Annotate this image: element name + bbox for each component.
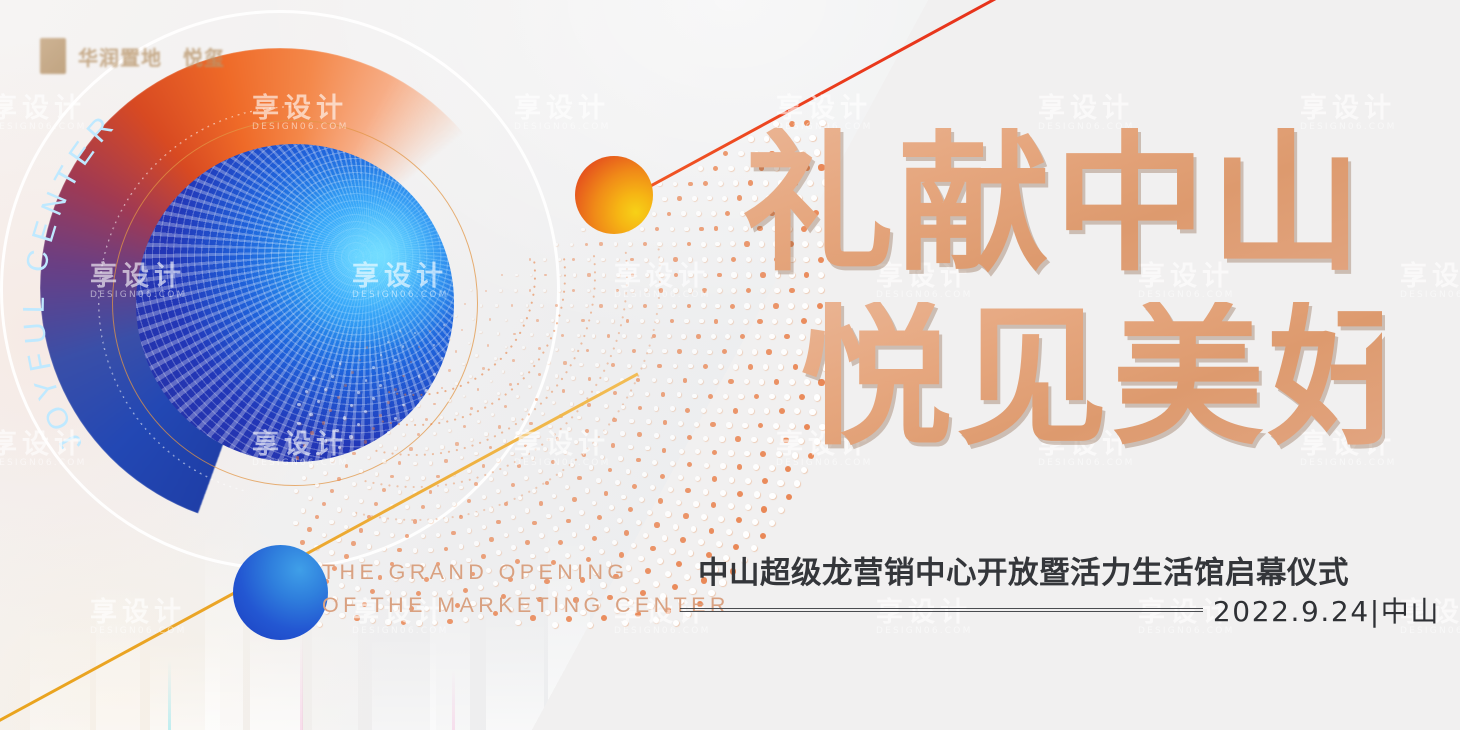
headline-line-2: 悦见美好 bbox=[800, 302, 1382, 454]
halftone-dot bbox=[659, 257, 663, 261]
halftone-dot bbox=[324, 439, 327, 442]
halftone-dot bbox=[399, 330, 401, 332]
halftone-dot bbox=[707, 350, 712, 355]
halftone-dot bbox=[595, 417, 599, 421]
halftone-dot bbox=[691, 526, 697, 532]
halftone-dot bbox=[718, 181, 723, 186]
halftone-dot bbox=[643, 304, 647, 308]
halftone-dot bbox=[510, 452, 514, 456]
halftone-dot bbox=[673, 364, 678, 369]
halftone-dot bbox=[390, 475, 394, 479]
halftone-dot bbox=[436, 533, 440, 537]
halftone-dot bbox=[496, 458, 500, 462]
halftone-dot bbox=[387, 372, 389, 374]
halftone-dot bbox=[530, 360, 533, 363]
halftone-dot bbox=[387, 431, 390, 434]
halftone-dot bbox=[642, 364, 646, 368]
halftone-dot bbox=[413, 548, 418, 553]
halftone-dot bbox=[329, 409, 332, 412]
halftone-dot bbox=[669, 548, 675, 554]
halftone-dot bbox=[558, 289, 561, 292]
halftone-dot bbox=[461, 329, 463, 331]
halftone-dot bbox=[515, 274, 517, 276]
halftone-dot bbox=[517, 464, 521, 468]
halftone-dot bbox=[551, 319, 554, 322]
halftone-dot bbox=[662, 197, 666, 201]
halftone-dot bbox=[552, 494, 556, 498]
halftone-dot bbox=[468, 342, 470, 344]
halftone-dot bbox=[616, 258, 620, 262]
halftone-dot bbox=[688, 288, 693, 293]
english-subtitle-line-1: THE GRAND OPENING bbox=[322, 556, 730, 589]
halftone-dot bbox=[585, 488, 590, 493]
halftone-dot bbox=[636, 520, 641, 525]
halftone-dot bbox=[372, 427, 375, 430]
halftone-dot bbox=[489, 446, 492, 449]
halftone-dot bbox=[418, 346, 420, 348]
halftone-dot bbox=[379, 444, 382, 447]
halftone-dot bbox=[511, 304, 513, 306]
halftone-dot bbox=[302, 476, 306, 480]
halftone-dot bbox=[330, 489, 334, 493]
halftone-dot bbox=[520, 372, 523, 375]
halftone-dot bbox=[701, 303, 706, 308]
halftone-dot bbox=[615, 480, 620, 485]
halftone-dot bbox=[563, 361, 566, 364]
halftone-dot bbox=[504, 502, 508, 506]
halftone-dot bbox=[441, 357, 443, 359]
halftone-dot bbox=[524, 444, 528, 448]
halftone-dot bbox=[375, 472, 379, 476]
halftone-dot bbox=[726, 529, 732, 535]
halftone-dot bbox=[657, 304, 661, 308]
halftone-dot bbox=[352, 452, 355, 455]
halftone-dot bbox=[425, 418, 428, 421]
halftone-dot bbox=[558, 258, 561, 261]
halftone-dot bbox=[539, 501, 543, 505]
halftone-dot bbox=[310, 431, 313, 434]
halftone-dot bbox=[655, 227, 659, 231]
halftone-dot bbox=[374, 531, 378, 535]
halftone-dot bbox=[717, 288, 722, 293]
halftone-dot bbox=[677, 349, 682, 354]
halftone-dot bbox=[673, 524, 679, 530]
halftone-dot bbox=[708, 394, 713, 399]
halftone-dot bbox=[382, 547, 387, 552]
halftone-dot bbox=[581, 319, 584, 322]
halftone-dot bbox=[421, 534, 425, 538]
halftone-dot bbox=[463, 425, 466, 428]
halftone-dot bbox=[455, 382, 458, 385]
halftone-dot bbox=[650, 546, 656, 552]
halftone-dot bbox=[685, 488, 690, 493]
halftone-dot bbox=[722, 196, 727, 201]
halftone-dot bbox=[718, 364, 723, 369]
halftone-dot bbox=[474, 541, 479, 546]
halftone-dot bbox=[710, 422, 715, 427]
halftone-dot bbox=[670, 435, 675, 440]
halftone-dot bbox=[351, 541, 356, 546]
halftone-dot bbox=[574, 440, 578, 444]
halftone-dot bbox=[503, 471, 507, 475]
halftone-dot bbox=[677, 196, 682, 201]
halftone-dot bbox=[417, 433, 420, 436]
halftone-dot bbox=[725, 211, 730, 216]
halftone-dot bbox=[659, 273, 663, 277]
halftone-dot bbox=[640, 319, 644, 323]
halftone-dot bbox=[577, 476, 581, 480]
halftone-dot bbox=[513, 333, 516, 336]
orange-gradient-sphere bbox=[575, 156, 653, 234]
halftone-dot bbox=[543, 289, 546, 292]
halftone-dot bbox=[382, 459, 385, 462]
halftone-dot bbox=[688, 273, 693, 278]
halftone-dot bbox=[482, 464, 486, 468]
halftone-dot bbox=[662, 448, 667, 453]
halftone-dot bbox=[394, 417, 397, 420]
halftone-dot bbox=[338, 446, 341, 449]
halftone-dot bbox=[570, 304, 573, 307]
halftone-dot bbox=[630, 289, 634, 293]
halftone-dot bbox=[489, 537, 494, 542]
halftone-dot bbox=[597, 515, 602, 520]
brand-logo: 华润置地 悦玺 bbox=[40, 38, 225, 74]
halftone-dot bbox=[729, 477, 735, 483]
halftone-dot bbox=[443, 324, 445, 326]
halftone-dot bbox=[504, 405, 507, 408]
halftone-dot bbox=[728, 450, 734, 456]
halftone-dot bbox=[496, 520, 500, 524]
halftone-dot bbox=[555, 374, 558, 377]
halftone-dot bbox=[536, 319, 539, 322]
halftone-dot bbox=[546, 386, 549, 389]
halftone-dot bbox=[703, 364, 708, 369]
halftone-dot bbox=[718, 516, 724, 522]
halftone-dot bbox=[551, 460, 555, 464]
halftone-dot bbox=[351, 371, 354, 374]
halftone-dot bbox=[696, 334, 701, 339]
halftone-dot bbox=[596, 320, 599, 323]
halftone-dot bbox=[520, 319, 523, 322]
halftone-dot bbox=[585, 429, 589, 433]
halftone-dot bbox=[655, 319, 659, 323]
halftone-dot bbox=[322, 421, 325, 424]
halftone-dot bbox=[753, 464, 759, 470]
halftone-dot bbox=[448, 429, 451, 432]
halftone-dot bbox=[681, 334, 686, 339]
halftone-dot bbox=[631, 273, 635, 277]
halftone-dot bbox=[715, 242, 720, 247]
halftone-dot bbox=[296, 456, 300, 460]
halftone-dot bbox=[692, 196, 697, 201]
halftone-dot bbox=[426, 360, 428, 362]
halftone-dot bbox=[604, 404, 608, 408]
halftone-dot bbox=[601, 349, 605, 353]
halftone-dot bbox=[608, 468, 613, 473]
halftone-dot bbox=[577, 416, 581, 420]
halftone-dot bbox=[329, 520, 333, 524]
halftone-dot bbox=[531, 456, 535, 460]
halftone-dot bbox=[596, 478, 601, 483]
halftone-dot bbox=[518, 496, 522, 500]
halftone-dot bbox=[512, 359, 515, 362]
halftone-dot bbox=[654, 522, 659, 527]
halftone-dot bbox=[462, 363, 464, 365]
halftone-dot bbox=[367, 544, 372, 549]
halftone-dot bbox=[679, 449, 684, 454]
halftone-dot bbox=[604, 491, 609, 496]
halftone-dot bbox=[516, 395, 519, 398]
halftone-dot bbox=[308, 496, 312, 500]
halftone-dot bbox=[571, 376, 574, 379]
halftone-dot bbox=[645, 273, 649, 277]
halftone-dot bbox=[409, 447, 412, 450]
blue-gradient-sphere bbox=[233, 545, 328, 640]
halftone-dot bbox=[511, 417, 514, 420]
halftone-dot bbox=[421, 476, 425, 480]
halftone-dot bbox=[599, 549, 604, 554]
halftone-dot bbox=[428, 548, 433, 553]
halftone-dot bbox=[489, 477, 493, 481]
halftone-dot bbox=[587, 273, 590, 276]
halftone-dot bbox=[425, 447, 428, 450]
halftone-dot bbox=[652, 378, 656, 382]
halftone-dot bbox=[484, 400, 487, 403]
halftone-dot bbox=[514, 289, 516, 291]
halftone-dot bbox=[536, 435, 540, 439]
halftone-dot bbox=[455, 315, 457, 317]
halftone-dot bbox=[650, 485, 655, 490]
halftone-dot bbox=[703, 436, 708, 441]
halftone-dot bbox=[563, 450, 567, 454]
event-date-location: 2022.9.24|中山 bbox=[1213, 590, 1440, 630]
halftone-dot bbox=[728, 166, 733, 171]
halftone-dot bbox=[516, 431, 519, 434]
halftone-dot bbox=[600, 455, 604, 459]
halftone-dot bbox=[703, 273, 708, 278]
halftone-dot bbox=[728, 379, 733, 384]
halftone-dot bbox=[754, 491, 760, 497]
halftone-dot bbox=[511, 515, 515, 519]
halftone-dot bbox=[645, 392, 649, 396]
halftone-dot bbox=[379, 384, 382, 387]
halftone-dot bbox=[760, 533, 766, 539]
halftone-dot bbox=[365, 379, 368, 382]
halftone-dot bbox=[612, 540, 617, 545]
halftone-dot bbox=[417, 404, 420, 407]
halftone-dot bbox=[497, 392, 500, 395]
halftone-dot bbox=[380, 354, 382, 356]
halftone-dot bbox=[444, 488, 448, 492]
halftone-dot bbox=[567, 427, 571, 431]
halftone-dot bbox=[687, 462, 692, 467]
halftone-dot bbox=[670, 227, 674, 231]
halftone-dot bbox=[538, 469, 542, 473]
halftone-dot bbox=[680, 537, 686, 543]
halftone-dot bbox=[455, 442, 458, 445]
halftone-dot bbox=[555, 348, 558, 351]
halftone-dot bbox=[636, 458, 641, 463]
halftone-dot bbox=[733, 180, 738, 185]
halftone-dot bbox=[440, 416, 443, 419]
headline-block: 礼献中山 悦见美好 bbox=[742, 128, 1382, 454]
halftone-dot bbox=[470, 438, 473, 441]
halftone-dot bbox=[352, 512, 356, 516]
halftone-dot bbox=[592, 334, 595, 337]
halftone-dot bbox=[603, 430, 607, 434]
halftone-dot bbox=[402, 345, 404, 347]
halftone-dot bbox=[622, 334, 626, 338]
halftone-dot bbox=[665, 511, 670, 516]
halftone-dot bbox=[688, 364, 693, 369]
halftone-dot bbox=[459, 544, 464, 549]
halftone-dot bbox=[616, 289, 620, 293]
halftone-dot bbox=[715, 304, 720, 309]
halftone-dot bbox=[556, 437, 560, 441]
halftone-dot bbox=[638, 406, 642, 410]
halftone-dot bbox=[640, 227, 644, 231]
halftone-dot bbox=[632, 484, 637, 489]
halftone-dot bbox=[684, 319, 689, 324]
halftone-dot bbox=[357, 423, 360, 426]
halftone-dot bbox=[643, 242, 647, 246]
halftone-dot bbox=[745, 478, 751, 484]
halftone-dot bbox=[541, 412, 544, 415]
halftone-dot bbox=[297, 422, 300, 425]
halftone-dot bbox=[698, 539, 704, 545]
halftone-dot bbox=[357, 391, 360, 394]
halftone-dot bbox=[572, 258, 575, 261]
halftone-dot bbox=[639, 497, 644, 502]
halftone-dot bbox=[359, 528, 363, 532]
halftone-dot bbox=[733, 364, 738, 369]
halftone-dot bbox=[402, 433, 405, 436]
halftone-dot bbox=[525, 540, 530, 545]
halftone-dot bbox=[714, 319, 719, 324]
halftone-dot bbox=[667, 378, 672, 383]
halftone-dot bbox=[652, 460, 657, 465]
halftone-dot bbox=[626, 319, 630, 323]
halftone-dot bbox=[552, 401, 555, 404]
halftone-dot bbox=[636, 378, 640, 382]
halftone-dot bbox=[716, 541, 722, 547]
halftone-dot bbox=[713, 379, 718, 384]
halftone-dot bbox=[585, 304, 588, 307]
halftone-dot bbox=[695, 476, 700, 481]
halftone-dot bbox=[592, 536, 597, 541]
halftone-dot bbox=[546, 333, 549, 336]
halftone-dot bbox=[587, 289, 590, 292]
halftone-dot bbox=[737, 464, 743, 470]
halftone-dot bbox=[769, 493, 775, 499]
halftone-dot bbox=[547, 361, 550, 364]
halftone-dot bbox=[482, 367, 485, 370]
halftone-dot bbox=[309, 413, 312, 416]
halftone-dot bbox=[394, 359, 396, 361]
halftone-dot bbox=[529, 422, 532, 425]
halftone-dot bbox=[350, 404, 353, 407]
halftone-dot bbox=[307, 527, 312, 532]
halftone-dot bbox=[728, 319, 733, 324]
halftone-dot bbox=[367, 486, 371, 490]
halftone-dot bbox=[646, 419, 651, 424]
halftone-dot bbox=[728, 503, 734, 509]
halftone-dot bbox=[410, 418, 413, 421]
halftone-dot bbox=[459, 486, 463, 490]
halftone-dot bbox=[552, 622, 558, 628]
halftone-dot bbox=[786, 494, 792, 500]
halftone-dot bbox=[364, 440, 367, 443]
halftone-dot bbox=[337, 477, 341, 481]
halftone-dot bbox=[467, 469, 471, 473]
halftone-dot bbox=[382, 517, 386, 521]
halftone-dot bbox=[526, 304, 529, 307]
halftone-dot bbox=[673, 288, 677, 292]
halftone-dot bbox=[673, 182, 678, 187]
halftone-dot bbox=[335, 429, 338, 432]
halftone-dot bbox=[632, 349, 636, 353]
halftone-dot bbox=[297, 403, 300, 406]
halftone-dot bbox=[470, 407, 473, 410]
halftone-dot bbox=[561, 334, 564, 337]
halftone-dot bbox=[752, 519, 758, 525]
halftone-dot bbox=[428, 519, 432, 523]
halftone-dot bbox=[317, 400, 320, 403]
halftone-dot bbox=[498, 425, 501, 428]
halftone-dot bbox=[654, 433, 659, 438]
halftone-dot bbox=[592, 501, 597, 506]
halftone-dot bbox=[491, 413, 494, 416]
halftone-dot bbox=[642, 472, 647, 477]
halftone-dot bbox=[659, 288, 663, 292]
halftone-dot bbox=[555, 243, 558, 246]
halftone-dot bbox=[667, 212, 671, 216]
halftone-dot bbox=[532, 521, 537, 526]
halftone-dot bbox=[629, 419, 633, 423]
halftone-dot bbox=[570, 402, 574, 406]
halftone-dot bbox=[613, 391, 617, 395]
halftone-dot bbox=[684, 227, 689, 232]
halftone-dot bbox=[628, 304, 632, 308]
halftone-dot bbox=[621, 405, 625, 409]
halftone-dot bbox=[745, 504, 751, 510]
halftone-dot bbox=[614, 304, 618, 308]
halftone-dot bbox=[349, 435, 352, 438]
halftone-dot bbox=[337, 507, 341, 511]
halftone-dot bbox=[309, 464, 313, 468]
halftone-dot bbox=[535, 398, 538, 401]
halftone-dot bbox=[414, 332, 416, 334]
halftone-dot bbox=[405, 534, 409, 538]
halftone-dot bbox=[518, 527, 523, 532]
halftone-dot bbox=[331, 375, 334, 378]
halftone-dot bbox=[670, 406, 675, 411]
halftone-dot bbox=[670, 461, 675, 466]
halftone-dot bbox=[464, 303, 466, 305]
halftone-dot bbox=[322, 533, 327, 538]
halftone-dot bbox=[502, 370, 505, 373]
halftone-dot bbox=[494, 357, 497, 360]
halftone-dot bbox=[676, 500, 681, 505]
halftone-dot bbox=[714, 226, 719, 231]
halftone-dot bbox=[429, 330, 431, 332]
halftone-dot bbox=[630, 258, 634, 262]
halftone-dot bbox=[711, 211, 716, 216]
halftone-dot bbox=[374, 502, 378, 506]
halftone-dot bbox=[463, 395, 466, 398]
halftone-dot bbox=[711, 502, 717, 508]
halftone-dot bbox=[696, 211, 701, 216]
